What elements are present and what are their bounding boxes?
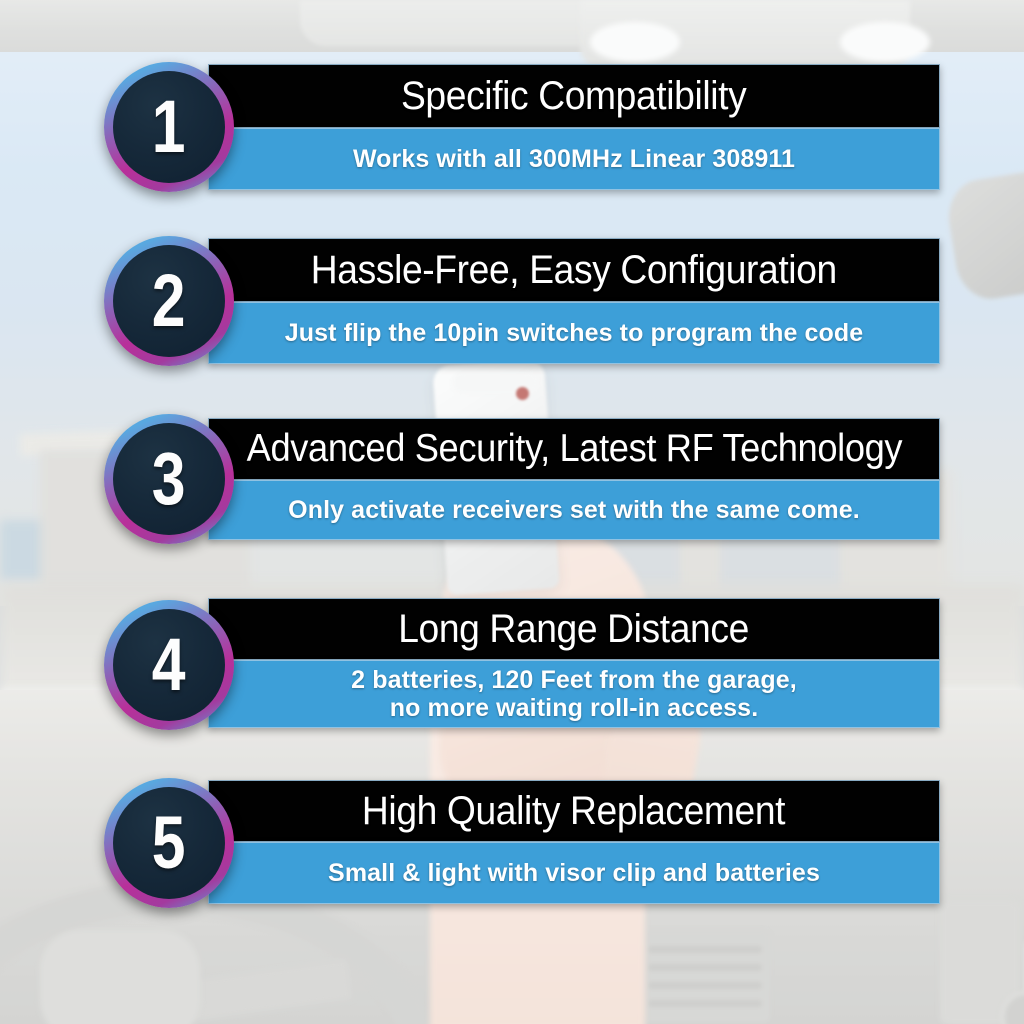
- feature-1-number: 1: [152, 90, 186, 164]
- feature-1-subtitle: Works with all 300MHz Linear 308911: [353, 145, 795, 173]
- feature-2-badge: 2: [104, 236, 234, 366]
- feature-4-number: 4: [152, 628, 186, 702]
- feature-2-title: Hassle-Free, Easy Configuration: [311, 248, 837, 293]
- feature-3-subtitle: Only activate receivers set with the sam…: [288, 496, 860, 524]
- feature-5-subtitle: Small & light with visor clip and batter…: [328, 859, 820, 887]
- feature-2-subtitle-bar: Just flip the 10pin switches to program …: [208, 302, 940, 364]
- feature-4-subtitle-bar: 2 batteries, 120 Feet from the garage, n…: [208, 660, 940, 728]
- feature-4-badge: 4: [104, 600, 234, 730]
- feature-5-badge: 5: [104, 778, 234, 908]
- feature-4-title: Long Range Distance: [399, 607, 750, 652]
- feature-3-badge: 3: [104, 414, 234, 544]
- feature-1-title-bar: Specific Compatibility: [208, 64, 940, 128]
- feature-1-subtitle-bar: Works with all 300MHz Linear 308911: [208, 128, 940, 190]
- feature-1-badge: 1: [104, 62, 234, 192]
- feature-2-subtitle: Just flip the 10pin switches to program …: [285, 319, 864, 347]
- feature-3-subtitle-bar: Only activate receivers set with the sam…: [208, 480, 940, 540]
- feature-1-title: Specific Compatibility: [401, 74, 746, 119]
- infographic-stage: Specific Compatibility Works with all 30…: [0, 0, 1024, 1024]
- feature-3-title-bar: Advanced Security, Latest RF Technology: [208, 418, 940, 480]
- feature-list: Specific Compatibility Works with all 30…: [0, 0, 1024, 1024]
- feature-3-number: 3: [152, 442, 186, 516]
- feature-4-subtitle-line-1: 2 batteries, 120 Feet from the garage,: [351, 666, 797, 694]
- feature-5-number: 5: [152, 806, 186, 880]
- feature-4-title-bar: Long Range Distance: [208, 598, 940, 660]
- feature-2-number: 2: [152, 264, 186, 338]
- feature-5-title: High Quality Replacement: [362, 789, 785, 834]
- feature-4-subtitle-line-2: no more waiting roll-in access.: [390, 694, 758, 722]
- feature-5-subtitle-bar: Small & light with visor clip and batter…: [208, 842, 940, 904]
- feature-5-title-bar: High Quality Replacement: [208, 780, 940, 842]
- feature-3-title: Advanced Security, Latest RF Technology: [246, 427, 902, 471]
- feature-2-title-bar: Hassle-Free, Easy Configuration: [208, 238, 940, 302]
